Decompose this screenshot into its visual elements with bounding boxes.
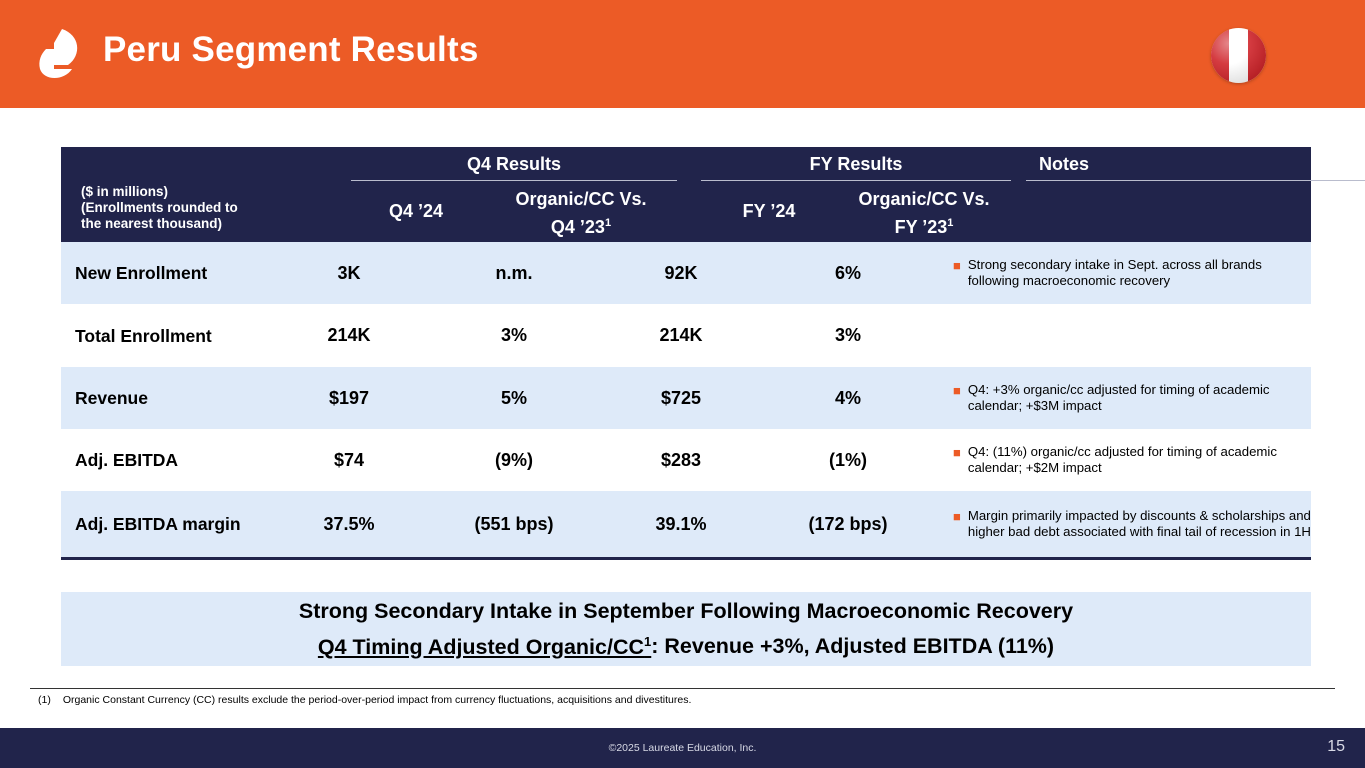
note-text: Margin primarily impacted by discounts &…	[968, 508, 1311, 540]
cell-notes: ■ Strong secondary intake in Sept. acros…	[945, 257, 1311, 289]
flag-gloss-overlay	[1211, 28, 1266, 83]
q4-cc-line2: Q4 ’23	[551, 217, 605, 237]
cell-fy-organic-cc: (172 bps)	[751, 514, 945, 535]
table-row: New Enrollment 3K n.m. 92K 6% ■ Strong s…	[61, 242, 1311, 304]
table-row: Total Enrollment 214K 3% 214K 3%	[61, 304, 1311, 367]
callout-underlined-text: Q4 Timing Adjusted Organic/CC1	[318, 635, 651, 659]
cell-fy-24: 92K	[611, 263, 751, 284]
bullet-dot-icon: ■	[953, 444, 961, 460]
bullet-dot-icon: ■	[953, 382, 961, 398]
cell-q4-24: 37.5%	[281, 514, 417, 535]
slide-footer-bar: ©2025 Laureate Education, Inc. 15	[0, 728, 1365, 768]
page-number: 15	[1327, 738, 1345, 756]
cell-notes: ■ Q4: +3% organic/cc adjusted for timing…	[945, 382, 1311, 414]
results-table: ($ in millions) (Enrollments rounded to …	[61, 147, 1311, 560]
callout-line-2-rest: Revenue +3%, Adjusted EBITDA (11%)	[658, 635, 1054, 659]
stub-line-1: ($ in millions)	[81, 184, 331, 200]
table-row: Adj. EBITDA margin 37.5% (551 bps) 39.1%…	[61, 491, 1311, 557]
callout-line-2: Q4 Timing Adjusted Organic/CC1: Revenue …	[318, 626, 1054, 661]
cell-fy-24: 214K	[611, 325, 751, 346]
column-group-fy-results: FY Results	[701, 154, 1011, 175]
cell-q4-organic-cc: (9%)	[417, 450, 611, 471]
row-label: New Enrollment	[61, 262, 281, 284]
column-group-rule-fy	[701, 180, 1011, 181]
cell-q4-24: $197	[281, 388, 417, 409]
slide-header-bar: Peru Segment Results	[0, 0, 1365, 108]
bullet-dot-icon: ■	[953, 257, 961, 273]
cell-q4-organic-cc: 5%	[417, 388, 611, 409]
peru-flag-circle-icon	[1211, 28, 1266, 83]
cell-fy-24: $283	[611, 450, 751, 471]
callout-line-1: Strong Secondary Intake in September Fol…	[299, 596, 1073, 626]
summary-callout: Strong Secondary Intake in September Fol…	[61, 592, 1311, 666]
column-group-rule-q4	[351, 180, 677, 181]
cell-fy-organic-cc: 6%	[751, 263, 945, 284]
cell-fy-24: 39.1%	[611, 514, 751, 535]
column-group-rule-notes	[1026, 180, 1365, 181]
note-text: Q4: +3% organic/cc adjusted for timing o…	[968, 382, 1311, 414]
cell-fy-organic-cc: 4%	[751, 388, 945, 409]
copyright-text: ©2025 Laureate Education, Inc.	[0, 742, 1365, 754]
column-group-q4-results: Q4 Results	[351, 154, 677, 175]
cell-q4-organic-cc: n.m.	[417, 263, 611, 284]
stub-line-2: (Enrollments rounded to	[81, 200, 331, 216]
table-row: Revenue $197 5% $725 4% ■ Q4: +3% organi…	[61, 367, 1311, 429]
column-header-fy-24: FY ’24	[701, 199, 837, 223]
footnote-text: Organic Constant Currency (CC) results e…	[63, 694, 692, 706]
cell-fy-organic-cc: 3%	[751, 325, 945, 346]
fy-cc-line2: FY ’23	[895, 217, 948, 237]
q4-cc-line1: Organic/CC Vs.	[515, 189, 646, 209]
cell-notes: ■ Q4: (11%) organic/cc adjusted for timi…	[945, 444, 1311, 476]
fy-cc-line1: Organic/CC Vs.	[858, 189, 989, 209]
cell-notes: ■ Margin primarily impacted by discounts…	[945, 508, 1311, 540]
fy-cc-footnote-marker: 1	[947, 217, 953, 229]
cell-q4-24: 214K	[281, 325, 417, 346]
cell-fy-24: $725	[611, 388, 751, 409]
cell-q4-24: $74	[281, 450, 417, 471]
table-bottom-rule	[61, 557, 1311, 560]
row-label: Total Enrollment	[61, 325, 281, 347]
note-text: Strong secondary intake in Sept. across …	[968, 257, 1311, 289]
table-row: Adj. EBITDA $74 (9%) $283 (1%) ■ Q4: (11…	[61, 429, 1311, 491]
bullet-dot-icon: ■	[953, 508, 961, 524]
q4-cc-footnote-marker: 1	[605, 217, 611, 229]
table-stub-header: ($ in millions) (Enrollments rounded to …	[81, 184, 331, 232]
cell-fy-organic-cc: (1%)	[751, 450, 945, 471]
note-text: Q4: (11%) organic/cc adjusted for timing…	[968, 444, 1311, 476]
footnote: (1)Organic Constant Currency (CC) result…	[38, 694, 691, 706]
column-group-notes: Notes	[1039, 154, 1239, 175]
column-header-fy-organic-cc: Organic/CC Vs. FY ’231	[837, 187, 1011, 239]
row-label: Revenue	[61, 387, 281, 409]
row-label-text: Adj. EBITDA margin	[75, 514, 241, 534]
row-label: Adj. EBITDA	[61, 449, 281, 471]
cell-q4-organic-cc: (551 bps)	[417, 514, 611, 535]
column-header-q4-organic-cc: Organic/CC Vs. Q4 ’231	[485, 187, 677, 239]
footnote-marker: (1)	[38, 694, 51, 706]
stub-line-3: the nearest thousand)	[81, 216, 331, 232]
footnote-divider	[30, 688, 1335, 689]
cell-q4-24: 3K	[281, 263, 417, 284]
column-header-q4-24: Q4 ’24	[351, 199, 481, 223]
row-label: Adj. EBITDA margin	[61, 513, 281, 535]
laureate-leaf-logo-icon	[28, 25, 90, 85]
cell-q4-organic-cc: 3%	[417, 325, 611, 346]
page-title: Peru Segment Results	[103, 30, 479, 70]
table-header: ($ in millions) (Enrollments rounded to …	[61, 147, 1311, 242]
callout-underline-label: Q4 Timing Adjusted Organic/CC	[318, 635, 644, 659]
